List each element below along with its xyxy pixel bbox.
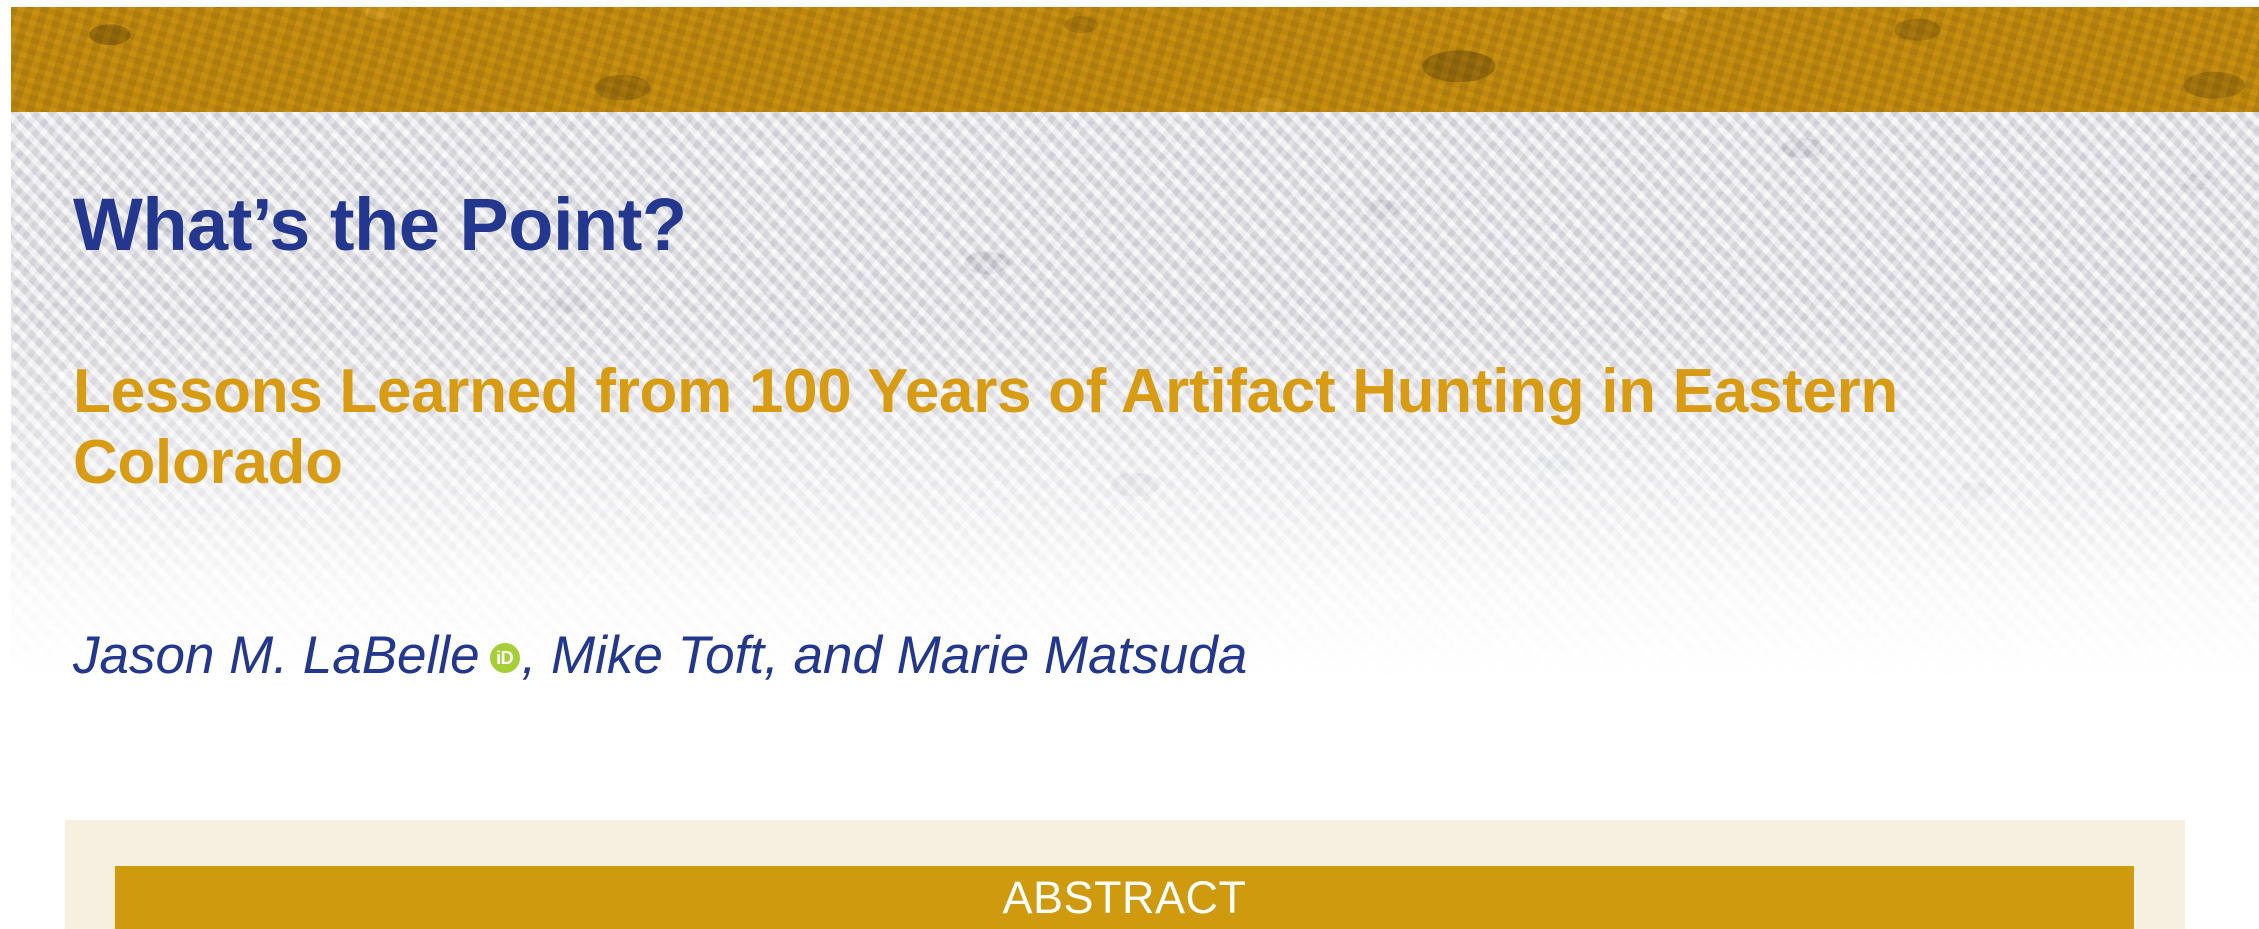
abstract-panel: ABSTRACT [65,820,2185,929]
page-title: What’s the Point? [73,182,687,267]
hero-text-block: What’s the Point? Lessons Learned from 1… [11,7,2259,723]
orcid-icon-label: iD [490,643,520,673]
article-subtitle: Lessons Learned from 100 Years of Artifa… [73,357,2183,498]
orcid-icon[interactable]: iD [490,643,520,673]
abstract-heading-label: ABSTRACT [1002,872,1246,924]
author-names-remaining: , Mike Toft, and Marie Matsuda [522,625,1248,686]
abstract-heading-bar: ABSTRACT [115,866,2134,929]
author-name-primary: Jason M. LaBelle [73,625,480,686]
article-hero-banner: What’s the Point? Lessons Learned from 1… [11,7,2259,723]
author-list: Jason M. LaBelle iD , Mike Toft, and Mar… [73,625,1247,686]
